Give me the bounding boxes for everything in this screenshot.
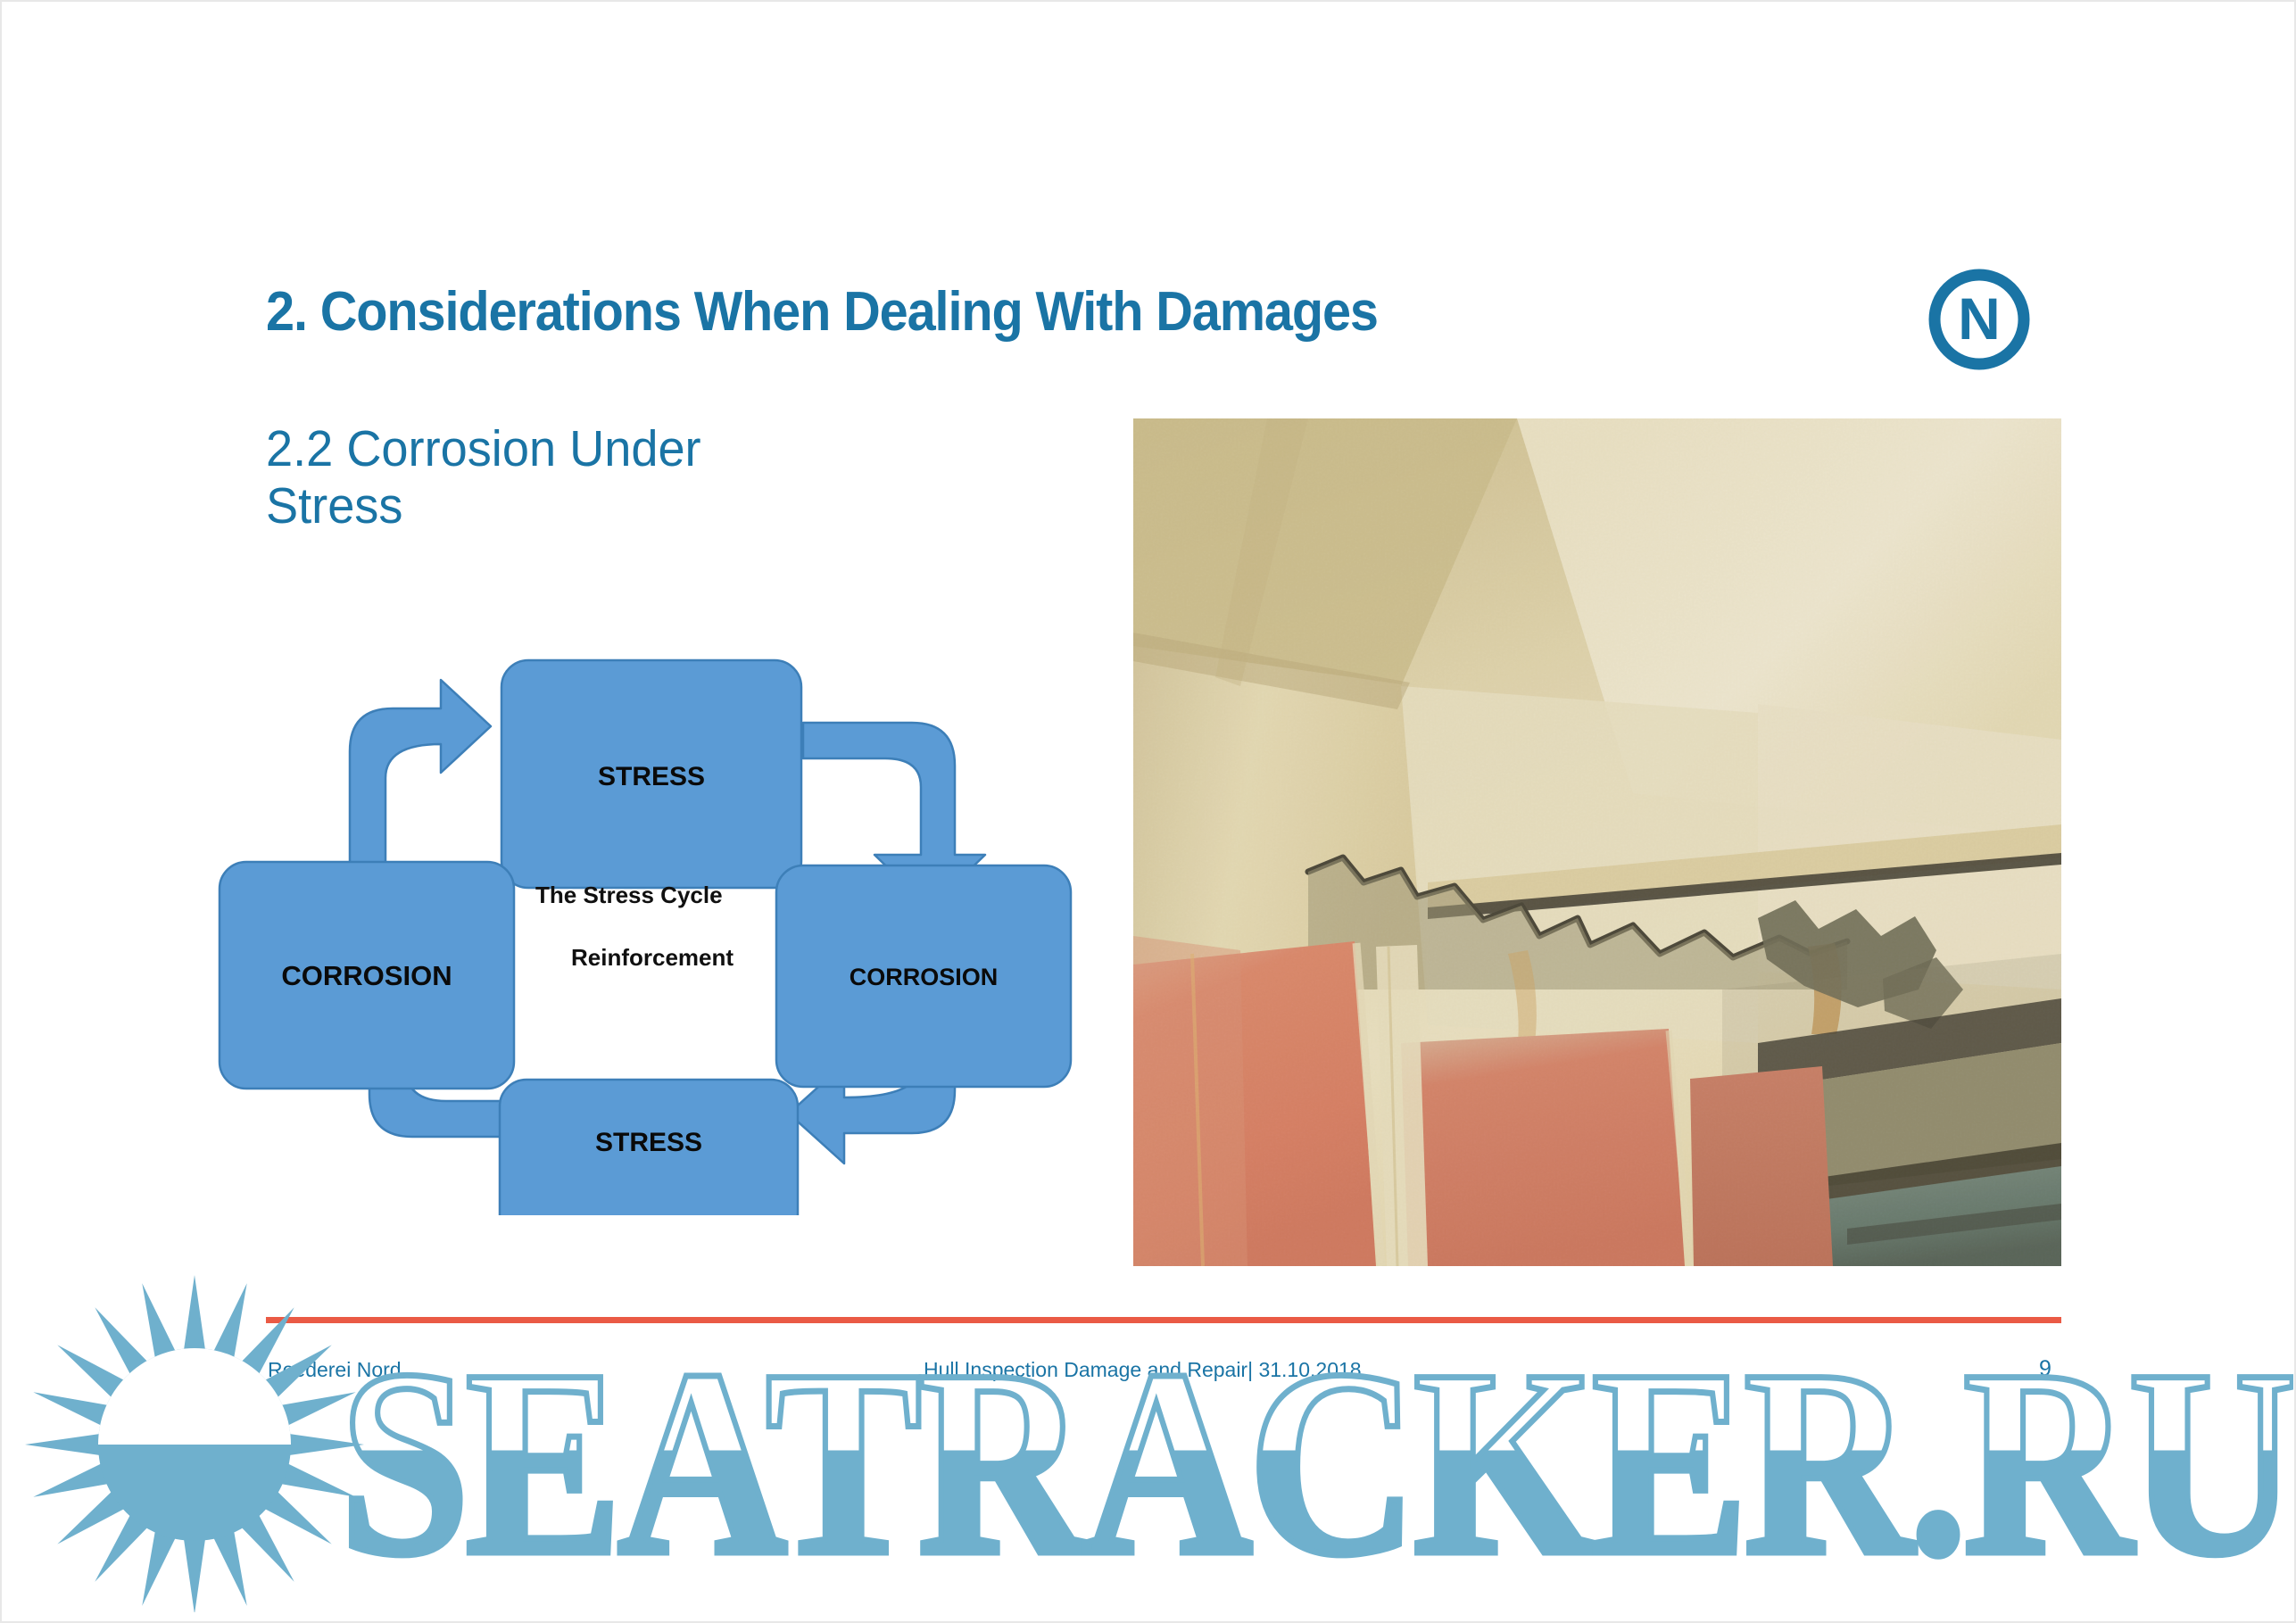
diagram-node-label: STRESS [598, 762, 705, 791]
diagram-node-right-corrosion[interactable]: CORROSION [776, 865, 1071, 1087]
diagram-node-top-stress[interactable]: STRESS [501, 660, 801, 888]
subtitle-line-1: 2.2 Corrosion Under [266, 421, 876, 478]
diagram-node-bottom-stress[interactable]: STRESS [500, 1080, 798, 1215]
logo-letter-n: N [1958, 286, 2001, 352]
diagram-node-label: CORROSION [281, 960, 452, 991]
footer-page-number: 9 [2039, 1356, 2051, 1382]
watermark-sunburst-icon [20, 1255, 368, 1612]
diagram-center-title-line-2: Reinforcement [571, 944, 734, 971]
slide-canvas: 2. Considerations When Dealing With Dama… [0, 0, 2296, 1623]
diagram-node-left-corrosion[interactable]: CORROSION [220, 862, 514, 1089]
footer-document-info: Hull Inspection Damage and Repair| 31.10… [924, 1358, 1362, 1382]
reederei-nord-logo: N [1925, 265, 2034, 374]
page-title: 2. Considerations When Dealing With Dama… [266, 280, 1378, 344]
diagram-node-label: STRESS [595, 1128, 702, 1157]
corrosion-photo [1133, 418, 2061, 1266]
subtitle-line-2: Stress [266, 478, 876, 535]
section-subtitle: 2.2 Corrosion Under Stress [266, 421, 876, 535]
footer-divider [266, 1317, 2061, 1323]
diagram-center-title-line-1: The Stress Cycle [535, 882, 723, 908]
footer-company: Reederei Nord [268, 1358, 402, 1382]
diagram-node-label: CORROSION [850, 964, 999, 990]
stress-cycle-diagram: STRESS CORROSION STRESS CORROSION The St… [207, 644, 1117, 1215]
